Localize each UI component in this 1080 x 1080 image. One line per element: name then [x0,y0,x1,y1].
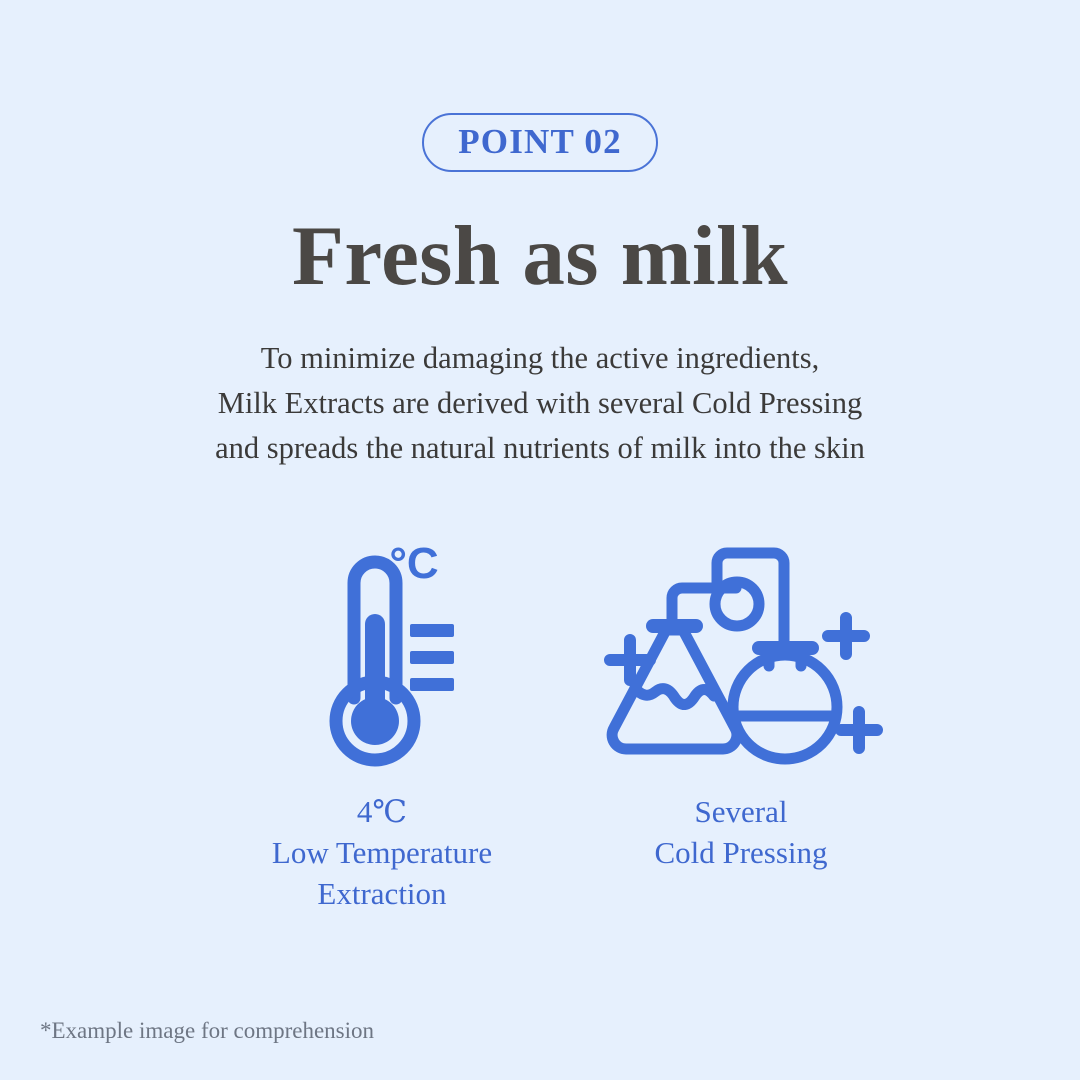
tube-right-segment [717,553,784,648]
caption-line-2: Cold Pressing [654,832,827,873]
feature-list: °C 4℃ Low Temperature Extraction [0,533,1080,914]
plus-icon-top-right [822,612,870,660]
plus-icon-left [604,634,656,686]
lab-flasks-icon [596,538,886,773]
thermometer-tick-marks [410,624,454,691]
feature-low-temperature-caption: 4℃ Low Temperature Extraction [272,791,492,914]
description-line-3: and spreads the natural nutrients of mil… [0,426,1080,471]
promo-slide: POINT 02 Fresh as milk To minimize damag… [0,0,1080,1080]
feature-cold-pressing: Several Cold Pressing [576,533,906,873]
point-badge-container: POINT 02 [0,113,1080,172]
page-title: Fresh as milk [292,214,788,299]
caption-line-2: Low Temperature [272,832,492,873]
erlenmeyer-liquid-line [635,688,714,705]
description-block: To minimize damaging the active ingredie… [0,336,1080,471]
plus-icon-bottom-right [835,706,883,754]
caption-line-3: Extraction [272,873,492,914]
thermometer-celsius-icon: °C [307,538,457,773]
round-flask-body [733,655,837,759]
description-line-1: To minimize damaging the active ingredie… [0,336,1080,381]
celsius-unit-label: °C [389,539,438,588]
thermometer-icon-container: °C [307,533,457,773]
caption-line-1: 4℃ [272,791,492,832]
thermometer-bulb-fill [351,697,399,745]
point-badge: POINT 02 [422,113,658,172]
description-line-2: Milk Extracts are derived with several C… [0,381,1080,426]
caption-line-1: Several [654,791,827,832]
footnote: *Example image for comprehension [40,1019,374,1042]
flasks-icon-container [596,533,886,773]
feature-cold-pressing-caption: Several Cold Pressing [654,791,827,873]
feature-low-temperature: °C 4℃ Low Temperature Extraction [232,533,532,914]
